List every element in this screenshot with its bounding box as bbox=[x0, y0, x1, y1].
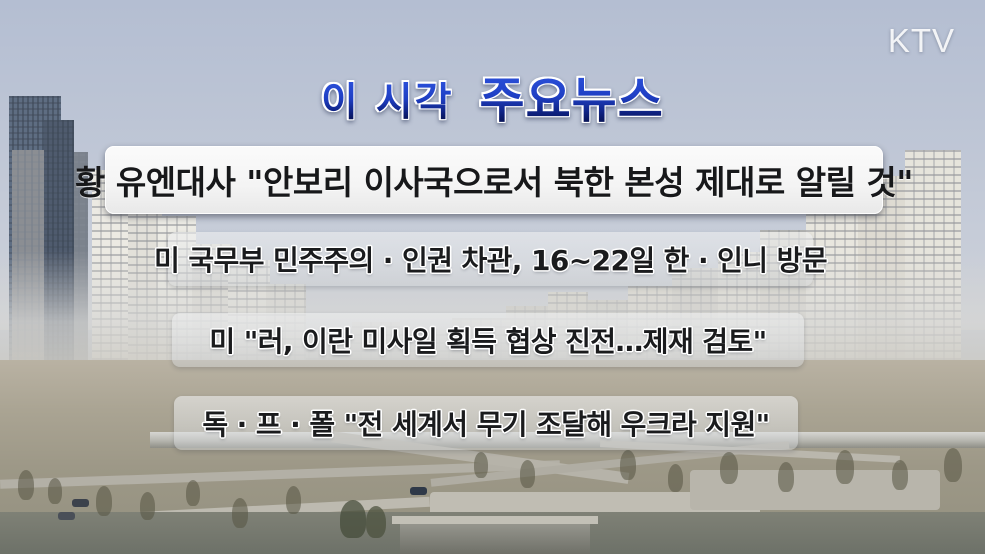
secondary-headline-bar-2: 미 "러, 이란 미사일 획득 협상 진전…제재 검토" bbox=[172, 313, 804, 367]
car bbox=[410, 487, 427, 495]
tree bbox=[96, 486, 112, 516]
program-title-part2: 주요뉴스 bbox=[480, 76, 664, 125]
main-headline-text: 황 유엔대사 "안보리 이사국으로서 북한 본성 제대로 알릴 것" bbox=[75, 156, 913, 204]
secondary-headline-text-1: 미 국무부 민주주의 · 인권 차관, 16~22일 한 · 인니 방문 bbox=[154, 239, 827, 279]
tree bbox=[340, 500, 366, 538]
bridge-railing bbox=[392, 516, 598, 524]
tree bbox=[18, 470, 34, 500]
tree bbox=[836, 450, 854, 484]
secondary-headline-bar-3: 독 · 프 · 폴 "전 세계서 무기 조달해 우크라 지원" bbox=[174, 396, 798, 450]
secondary-headline-bar-1: 미 국무부 민주주의 · 인권 차관, 16~22일 한 · 인니 방문 bbox=[168, 232, 813, 286]
tree bbox=[48, 478, 62, 504]
tree bbox=[720, 452, 738, 484]
tree bbox=[366, 506, 386, 538]
secondary-headline-text-2: 미 "러, 이란 미사일 획득 협상 진전…제재 검토" bbox=[209, 320, 766, 360]
tree bbox=[140, 492, 155, 520]
tree bbox=[186, 480, 200, 506]
broadcast-screen: KTV 이 시각주요뉴스 황 유엔대사 "안보리 이사국으로서 북한 본성 제대… bbox=[0, 0, 985, 554]
ktv-logo: KTV bbox=[888, 22, 955, 60]
bridge bbox=[400, 520, 590, 554]
secondary-headline-text-3: 독 · 프 · 폴 "전 세계서 무기 조달해 우크라 지원" bbox=[202, 403, 769, 443]
tree bbox=[944, 448, 962, 482]
program-title: 이 시각주요뉴스 bbox=[0, 74, 985, 123]
tree bbox=[474, 452, 488, 478]
tree bbox=[892, 460, 908, 490]
tree bbox=[620, 450, 636, 480]
car bbox=[58, 512, 75, 520]
program-title-part1: 이 시각 bbox=[321, 82, 453, 122]
tree bbox=[232, 498, 248, 528]
tree bbox=[286, 486, 301, 514]
main-headline-bar: 황 유엔대사 "안보리 이사국으로서 북한 본성 제대로 알릴 것" bbox=[105, 146, 883, 214]
tree bbox=[778, 462, 794, 492]
tree bbox=[520, 460, 535, 488]
car bbox=[72, 499, 89, 507]
tree bbox=[668, 464, 683, 492]
